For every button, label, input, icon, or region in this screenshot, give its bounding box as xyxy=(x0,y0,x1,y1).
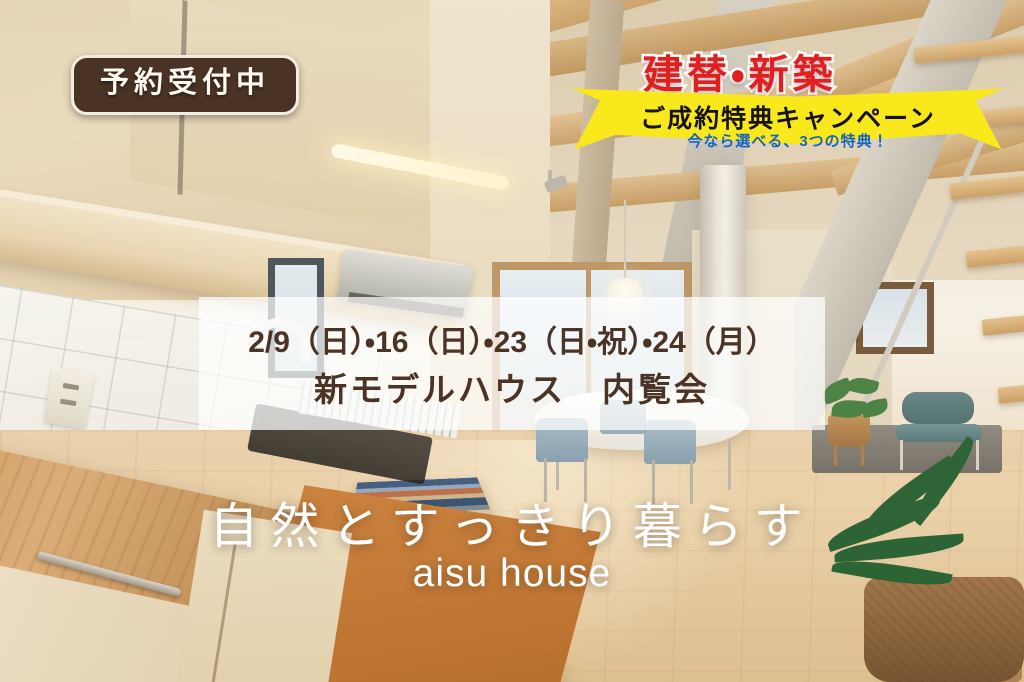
reservation-badge[interactable]: 予約受付中 xyxy=(71,55,299,115)
event-dates: 2/9（日）・16（日）・23（日・祝）・24（月） xyxy=(199,317,825,361)
poster-canvas: 予約受付中 建替・新築 ご成約特典キャンペーン 今なら選べる、3つの特典！ 2/… xyxy=(0,0,1024,682)
campaign-ribbon: ご成約特典キャンペーン 今なら選べる、3つの特典！ xyxy=(572,86,1004,152)
brand-tagline: 自然とすっきり暮らす xyxy=(0,487,1024,558)
event-title: 新モデルハウス 内覧会 xyxy=(199,363,825,411)
table-leg xyxy=(728,440,731,490)
event-info-banner: 2/9（日）・16（日）・23（日・祝）・24（月） 新モデルハウス 内覧会 xyxy=(199,297,825,430)
stair-tread xyxy=(966,236,1024,268)
stair-tread xyxy=(950,168,1024,200)
stair-tread xyxy=(998,372,1024,404)
leaf xyxy=(847,375,880,398)
pendant-cord xyxy=(624,200,626,280)
plant-stand xyxy=(834,444,864,466)
potted-plant-leaves xyxy=(818,378,888,424)
brand-logo: aisu house xyxy=(0,552,1024,596)
chair-leg xyxy=(900,440,903,470)
teal-lounge-chair-back xyxy=(902,392,974,424)
stair-tread xyxy=(982,304,1024,336)
chair-leg xyxy=(976,440,979,470)
ribbon-subtitle: 今なら選べる、3つの特典！ xyxy=(572,130,1004,151)
